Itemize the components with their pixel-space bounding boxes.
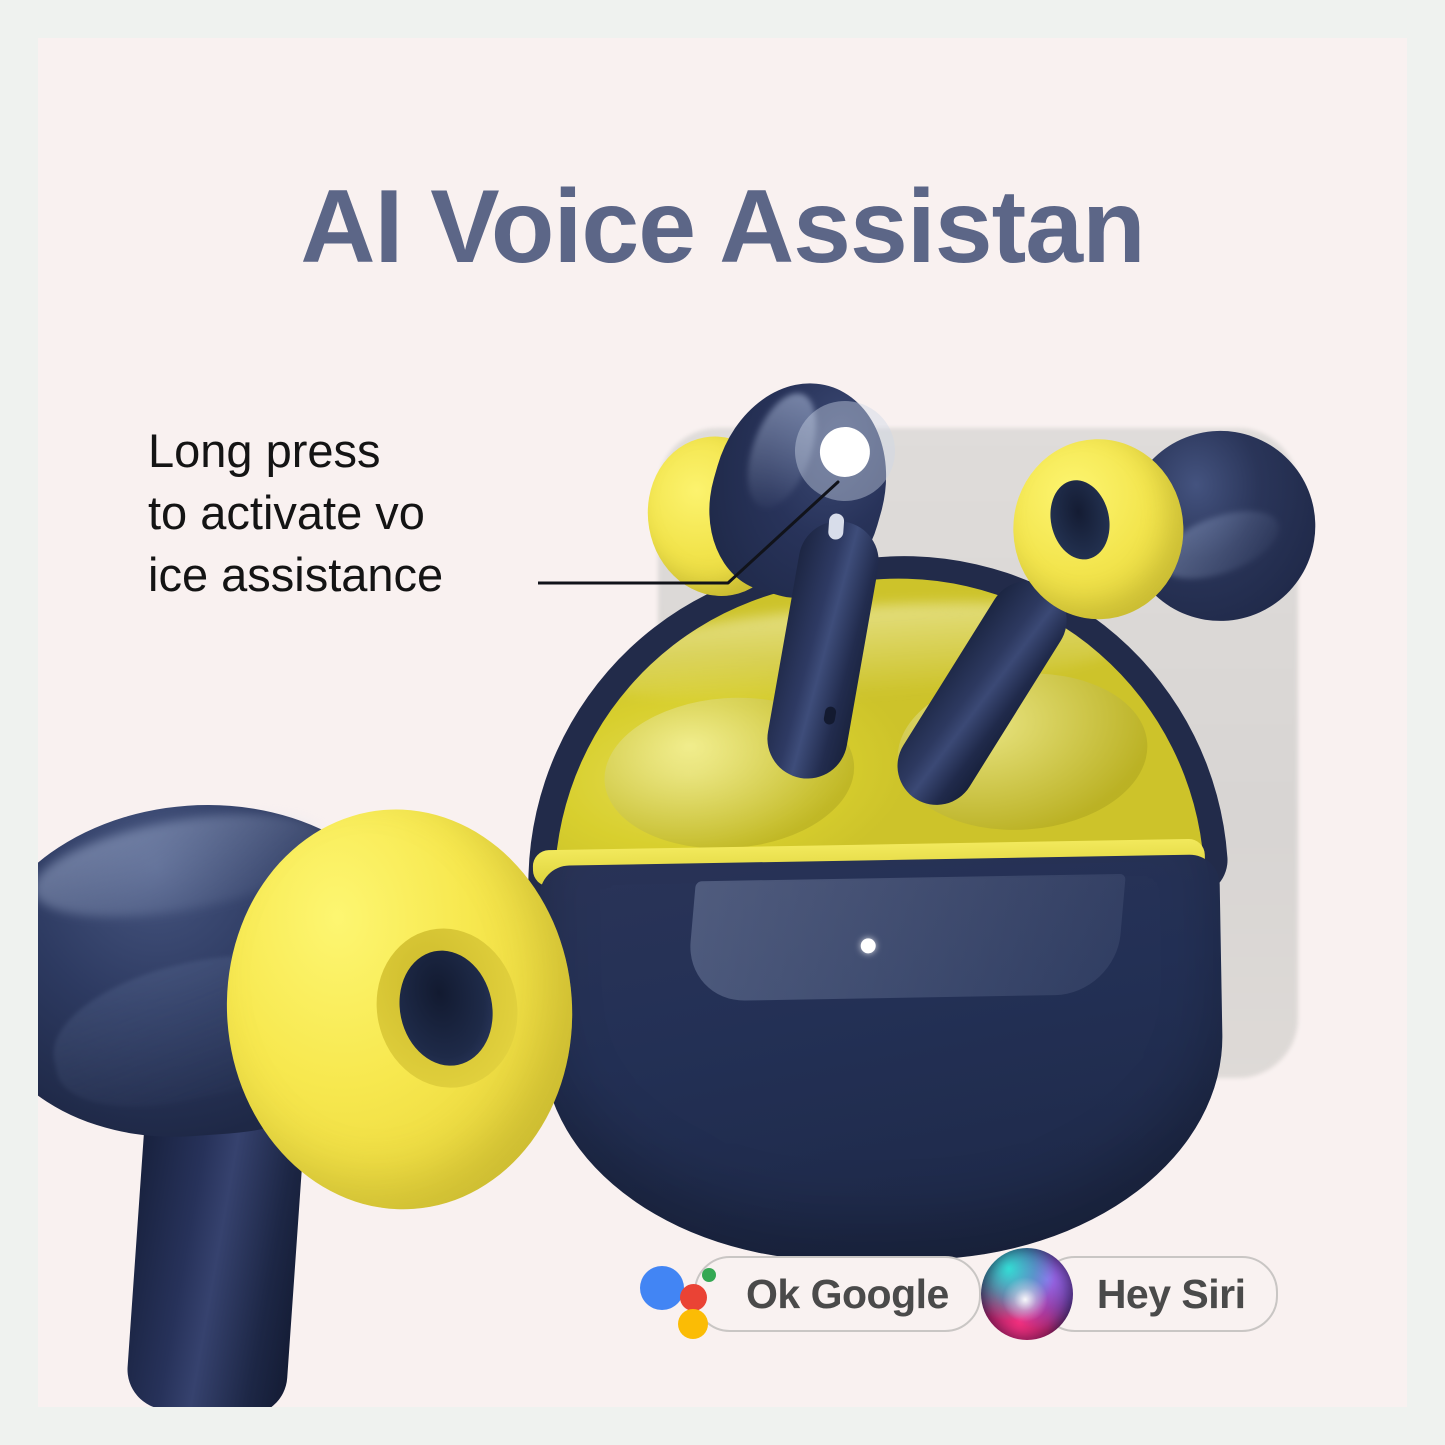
google-dot-yellow-icon: [678, 1309, 708, 1339]
voice-assistant-badges: Ok Google Hey Siri: [638, 1248, 1278, 1340]
earbud-left: [624, 357, 973, 798]
google-dot-red-icon: [680, 1284, 707, 1311]
callout-line-1: Long press: [148, 420, 568, 482]
google-dot-blue-icon: [640, 1266, 684, 1310]
banner-panel: AI Voice Assistan: [38, 38, 1407, 1407]
siri-orb-icon: [981, 1248, 1073, 1340]
ok-google-label[interactable]: Ok Google: [694, 1256, 981, 1332]
banner-frame: AI Voice Assistan: [0, 0, 1445, 1445]
google-assistant-icon: [638, 1254, 724, 1334]
callout-text: Long press to activate vo ice assistance: [148, 420, 568, 606]
callout-line-3: ice assistance: [148, 544, 568, 606]
badge-ok-google[interactable]: Ok Google: [638, 1254, 981, 1334]
earbud-right: [986, 417, 1340, 849]
hey-siri-label[interactable]: Hey Siri: [1039, 1256, 1278, 1332]
product-scene: [38, 38, 1407, 1407]
earbud-closeup: [38, 756, 660, 1407]
case-front-gloss: [685, 874, 1125, 1002]
touch-control-pin-icon: [828, 513, 845, 540]
google-dot-green-icon: [702, 1268, 716, 1282]
callout-line-2: to activate vo: [148, 482, 568, 544]
badge-hey-siri[interactable]: Hey Siri: [981, 1248, 1278, 1340]
